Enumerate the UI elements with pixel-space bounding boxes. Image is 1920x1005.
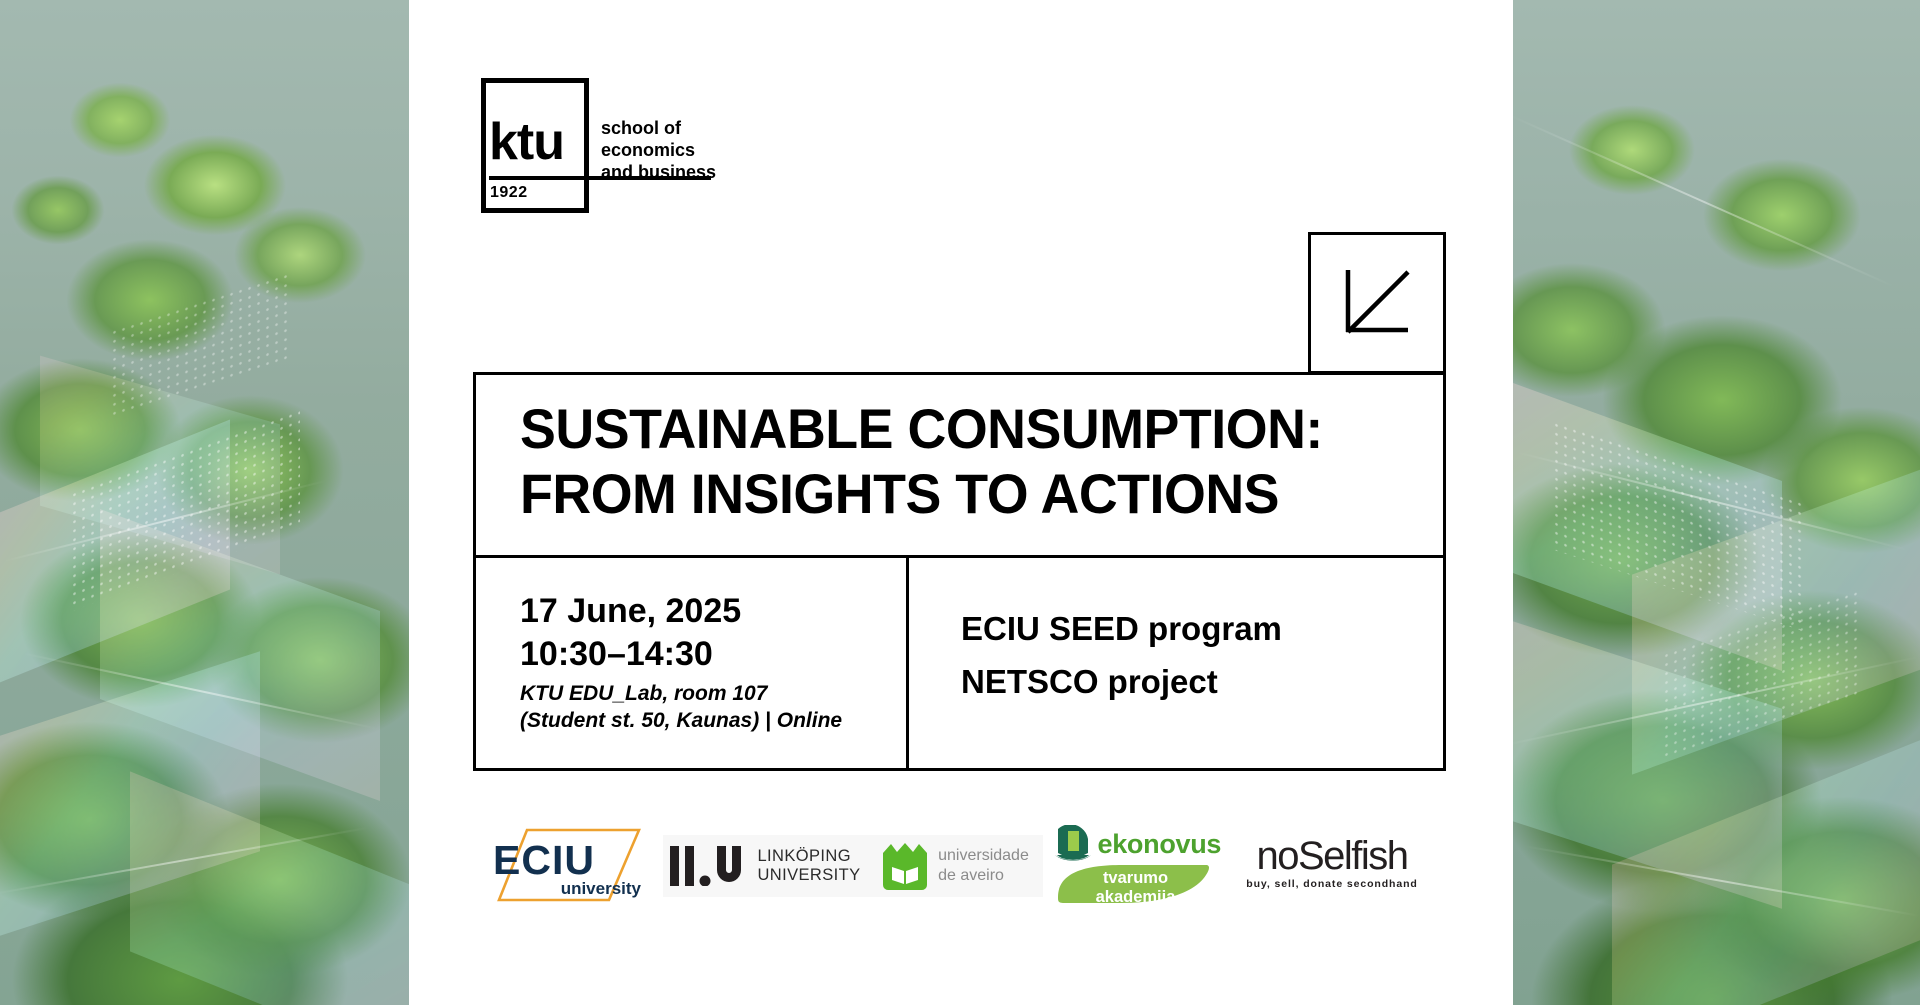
aveiro-name: universidade de aveiro	[938, 846, 1029, 886]
event-program-box: ECIU SEED program NETSCO project	[906, 555, 1446, 771]
glass-facet	[130, 771, 409, 1005]
prismatic-facets-right	[1512, 0, 1920, 1005]
partner-logo-linkoping: LINKÖPING UNIVERSITY	[663, 835, 868, 897]
arrow-down-left-icon	[1308, 232, 1446, 374]
partner-logos: ECIU university LINKÖPING UNIVERSITY	[473, 818, 1446, 913]
dot-pattern	[110, 271, 290, 419]
liu-wordmark-icon	[670, 846, 748, 886]
ekonovus-emblem-icon	[1052, 825, 1094, 867]
poster-content-panel: ktu 1922 school of economics and busines…	[409, 0, 1513, 1005]
event-datetime-box: 17 June, 2025 10:30–14:30 KTU EDU_Lab, r…	[473, 555, 909, 771]
background-photo-right	[1512, 0, 1920, 1005]
eciu-tagline: university	[561, 880, 641, 897]
partner-logo-ekonovus: ekonovus tvarumo akademija	[1043, 818, 1218, 913]
partner-logo-eciu: ECIU university	[473, 818, 663, 913]
ekonovus-tagline: tvarumo akademija	[1068, 869, 1204, 907]
noselfish-wordmark: noSelfish	[1237, 836, 1427, 876]
ktu-wordmark: ktu	[489, 116, 564, 168]
aveiro-book-icon	[882, 841, 928, 891]
prismatic-facets-left	[0, 0, 409, 1005]
ktu-logo: ktu 1922 school of economics and busines…	[481, 78, 721, 213]
event-title: SUSTAINABLE CONSUMPTION: FROM INSIGHTS T…	[520, 397, 1396, 527]
ktu-founding-year: 1922	[490, 184, 528, 202]
event-date: 17 June, 2025 10:30–14:30	[520, 590, 741, 676]
event-title-frame: SUSTAINABLE CONSUMPTION: FROM INSIGHTS T…	[473, 372, 1446, 558]
program-names: ECIU SEED program NETSCO project	[961, 602, 1282, 709]
liu-name: LINKÖPING UNIVERSITY	[757, 847, 860, 884]
ktu-faculty-name: school of economics and business	[601, 118, 716, 184]
partner-logo-noselfish: noSelfish buy, sell, donate secondhand	[1218, 818, 1446, 913]
event-details-row: 17 June, 2025 10:30–14:30 KTU EDU_Lab, r…	[473, 555, 1446, 771]
eciu-wordmark: ECIU	[493, 840, 595, 881]
partner-logo-aveiro: universidade de aveiro	[868, 835, 1043, 897]
event-venue: KTU EDU_Lab, room 107 (Student st. 50, K…	[520, 680, 842, 735]
glass-edge	[1512, 115, 1894, 288]
background-photo-left	[0, 0, 409, 1005]
noselfish-tagline: buy, sell, donate secondhand	[1237, 878, 1427, 890]
ekonovus-wordmark: ekonovus	[1098, 831, 1222, 858]
